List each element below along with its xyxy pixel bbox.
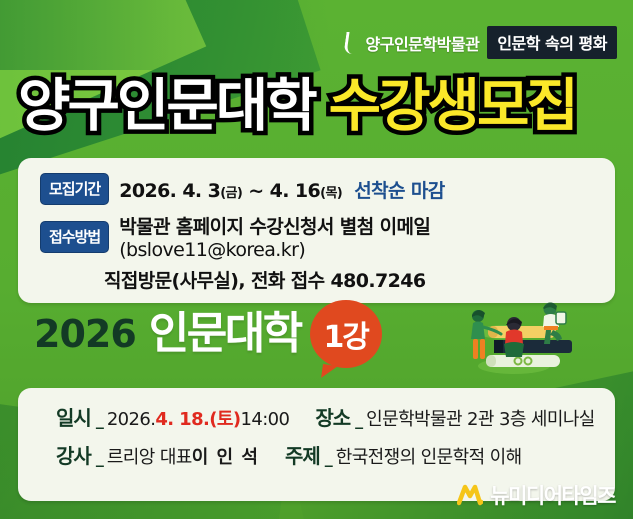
period-emphasis: 선착순 마감 — [354, 180, 444, 202]
footer-brand: 뉴미디어타임즈 — [457, 480, 615, 510]
method-desc: 박물관 홈페이지 수강신청서 별첨 — [119, 216, 379, 238]
period-start: 2026. 4. 3 — [119, 180, 220, 202]
theme-badge: 인문학 속의 평화 — [487, 26, 617, 59]
lecture-heading: 2026 인문대학 1강 — [34, 300, 382, 368]
period-range-sep: ~ — [242, 180, 269, 202]
detail-label-lecturer: 강사 — [56, 440, 91, 469]
chip-period: 모집기간 — [40, 173, 109, 205]
poster-canvas: 양구인문학박물관 인문학 속의 평화 양구인문대학 수강생모집 모집기간 202… — [0, 0, 633, 519]
method-email-address: (bslove11@korea.kr) — [119, 239, 305, 261]
period-text: 2026. 4. 3(금) ~ 4. 16(목) 선착순 마감 — [119, 176, 444, 203]
lecture-name: 인문대학 — [149, 312, 301, 356]
method-text: 박물관 홈페이지 수강신청서 별첨 이메일(bslove11@korea.kr) — [119, 212, 593, 261]
detail-row-datetime-venue: 일시 _ 2026. 4. 18.(토) 14:00 장소 _ 인문학박물관 2… — [18, 402, 615, 431]
period-end-day: (목) — [320, 186, 342, 201]
brush-stroke-icon — [343, 32, 358, 54]
period-start-day: (금) — [220, 186, 242, 201]
info-row-method: 접수방법 박물관 홈페이지 수강신청서 별첨 이메일(bslove11@kore… — [18, 212, 615, 261]
detail-lecturer-affiliation: 르리앙 대표 — [107, 443, 192, 469]
detail-label-datetime: 일시 — [56, 402, 91, 431]
detail-row-lecturer-topic: 강사 _ 르리앙 대표 이 인 석 주제 _ 한국전쟁의 인문학적 이해 — [18, 440, 615, 469]
method-visit-phone: 직접방문(사무실), 전화 접수 480.7246 — [104, 266, 425, 293]
detail-date-pre: 2026. — [107, 409, 156, 430]
title-main: 양구인문대학 — [18, 78, 315, 135]
recruitment-info-card: 모집기간 2026. 4. 3(금) ~ 4. 16(목) 선착순 마감 접수방… — [18, 158, 615, 303]
museum-name: 양구인문학박물관 — [366, 31, 480, 55]
title-highlight: 수강생모집 — [329, 78, 576, 135]
chip-method: 접수방법 — [40, 221, 109, 253]
info-row-period: 모집기간 2026. 4. 3(금) ~ 4. 16(목) 선착순 마감 — [18, 173, 615, 205]
lecture-number-label: 1강 — [323, 312, 367, 356]
info-row-method-line2: 직접방문(사무실), 전화 접수 480.7246 — [18, 266, 615, 293]
method-email-label: 이메일 — [380, 216, 431, 238]
detail-venue-value: 인문학박물관 2관 3층 세미나실 — [366, 405, 595, 431]
detail-dash-3: _ — [96, 448, 104, 467]
detail-dash-4: _ — [325, 448, 333, 467]
detail-topic-value: 한국전쟁의 인문학적 이해 — [336, 443, 522, 469]
detail-lecturer-name: 이 인 석 — [192, 443, 259, 469]
detail-dash-1: _ — [96, 410, 104, 429]
detail-dash-2: _ — [355, 410, 363, 429]
footer-brand-name: 뉴미디어타임즈 — [490, 480, 615, 510]
lecture-number-bubble: 1강 — [310, 300, 382, 368]
detail-time: 14:00 — [240, 409, 289, 430]
people-on-books-illustration — [452, 296, 612, 388]
lecture-year: 2026 — [34, 315, 136, 353]
detail-date-highlight: 4. 18.(토) — [155, 405, 240, 431]
n-mark-icon — [457, 484, 483, 506]
period-end: 4. 16 — [270, 180, 321, 202]
detail-label-venue: 장소 — [315, 402, 350, 431]
detail-label-topic: 주제 — [285, 440, 320, 469]
poster-header: 양구인문학박물관 인문학 속의 평화 — [345, 26, 617, 59]
page-title: 양구인문대학 수강생모집 — [18, 78, 619, 135]
